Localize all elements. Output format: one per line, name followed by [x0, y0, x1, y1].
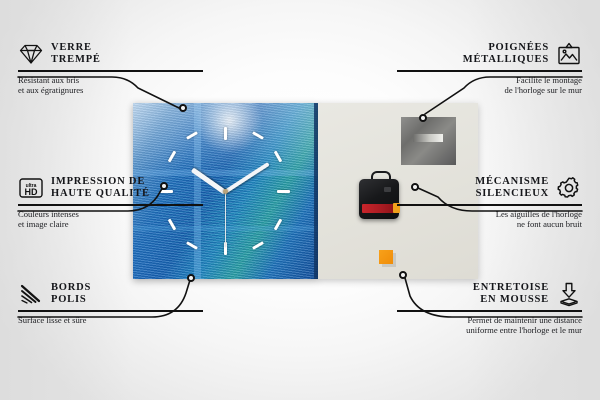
callout-title-line1: VERRE — [51, 42, 101, 55]
callout-rule — [18, 204, 203, 206]
callout-subtitle-line1: Surface lisse et sûre — [18, 315, 203, 326]
callout-subtitle-line2: de l'horloge sur le mur — [397, 85, 582, 96]
callout-title-line2: HAUTE QUALITÉ — [51, 188, 150, 201]
hour-tick-12 — [224, 127, 227, 140]
callout-rule — [18, 310, 203, 312]
callout-rule — [397, 204, 582, 206]
callout-rule — [397, 310, 582, 312]
connector-dot-poignees — [419, 114, 427, 122]
callout-verre-trempe: VERRE TREMPÉ Résistant aux bris et aux é… — [18, 41, 203, 96]
callout-title-line1: ENTRETOISE — [473, 282, 549, 295]
diamond-icon — [18, 41, 44, 67]
wall-frame-icon — [556, 41, 582, 67]
callout-subtitle-line1: Résistant aux bris — [18, 75, 203, 86]
connector-dot-verre-trempe — [179, 104, 187, 112]
metal-hanger-plate — [401, 117, 456, 165]
ultra-hd-icon: ultra HD — [18, 175, 44, 201]
ultra-hd-icon-large-text: HD — [25, 187, 38, 197]
callout-subtitle-line1: Permet de maintenir une distance — [397, 315, 582, 326]
hour-tick-3 — [277, 190, 290, 193]
foam-spacer — [379, 250, 393, 264]
hanger-slot — [413, 134, 443, 142]
callout-subtitle-line2: et image claire — [18, 219, 203, 230]
callout-title-line2: TREMPÉ — [51, 54, 101, 67]
connector-dot-entretoise — [399, 271, 407, 279]
gear-icon — [556, 175, 582, 201]
callout-subtitle-line2: uniforme entre l'horloge et le mur — [397, 325, 582, 336]
callout-impression-haute-qualite: ultra HD IMPRESSION DE HAUTE QUALITÉ Cou… — [18, 175, 203, 230]
callout-subtitle-line2: et aux égratignures — [18, 85, 203, 96]
callout-title-line1: MÉCANISME — [475, 176, 549, 189]
callout-subtitle-line1: Les aiguilles de l'horloge — [397, 209, 582, 220]
infographic-canvas: VERRE TREMPÉ Résistant aux bris et aux é… — [0, 0, 600, 400]
callout-title-line1: POIGNÉES — [463, 42, 549, 55]
callout-mecanisme-silencieux: MÉCANISME SILENCIEUX Les aiguilles de l'… — [397, 175, 582, 230]
callout-title-line2: EN MOUSSE — [473, 294, 549, 307]
battery — [362, 204, 395, 213]
mechanism-detail — [384, 187, 391, 192]
callout-title-line1: BORDS — [51, 282, 91, 295]
callout-title-line2: SILENCIEUX — [475, 188, 549, 201]
callout-title-line2: POLIS — [51, 294, 91, 307]
clock-second-hand — [225, 191, 227, 247]
callout-rule — [397, 70, 582, 72]
callout-subtitle-line2: ne font aucun bruit — [397, 219, 582, 230]
callout-bords-polis: BORDS POLIS Surface lisse et sûre — [18, 281, 203, 325]
clock-mechanism — [359, 179, 399, 219]
callout-rule — [18, 70, 203, 72]
press-down-icon — [556, 281, 582, 307]
callout-poignees-metalliques: POIGNÉES MÉTALLIQUES Facilite le montage… — [397, 41, 582, 96]
callout-subtitle-line1: Couleurs intenses — [18, 209, 203, 220]
callout-entretoise-en-mousse: ENTRETOISE EN MOUSSE Permet de maintenir… — [397, 281, 582, 336]
clock-center-hub — [223, 189, 228, 194]
callout-title-line1: IMPRESSION DE — [51, 176, 150, 189]
callout-title-line2: MÉTALLIQUES — [463, 54, 549, 67]
polished-edges-icon — [18, 281, 44, 307]
callout-subtitle-line1: Facilite le montage — [397, 75, 582, 86]
